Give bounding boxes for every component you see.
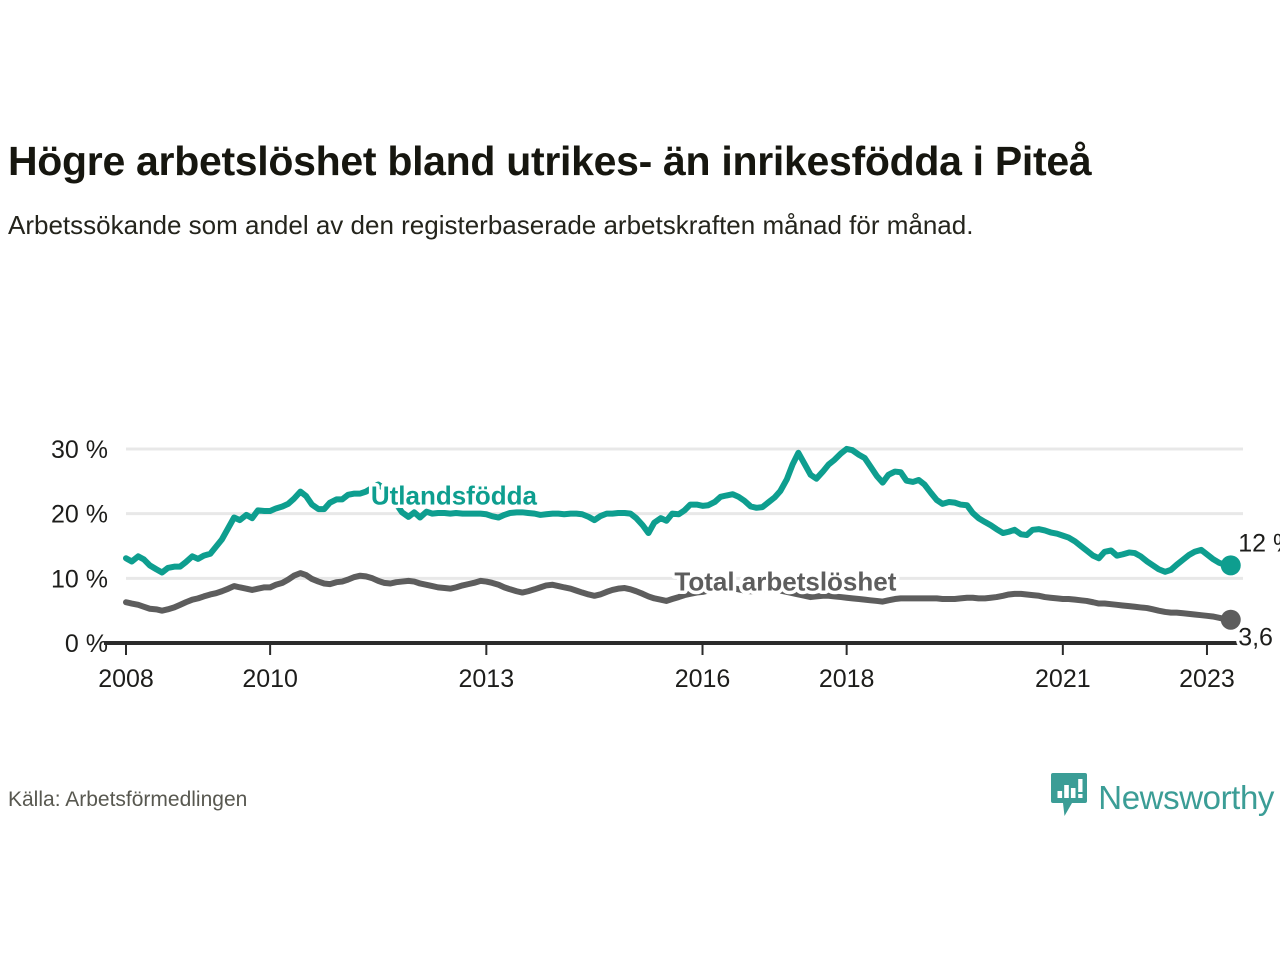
y-axis-tick-label: 0 % [65, 630, 108, 658]
page-title: Högre arbetslöshet bland utrikes- än inr… [8, 136, 1233, 186]
x-axis-tick-label: 2018 [819, 665, 875, 693]
series-label: Utlandsfödda [371, 481, 538, 511]
x-axis-tick-label: 2021 [1035, 665, 1091, 693]
series-line [126, 449, 1231, 573]
foreign-born-end-value: 12 % [1238, 529, 1280, 557]
x-axis-tick-label: 2016 [675, 665, 731, 693]
chart-footer: Källa: Arbetsförmedlingen Newsworthy [0, 778, 1280, 838]
y-axis-tick-label: 20 % [51, 501, 108, 529]
series-label: Total arbetslöshet [674, 567, 896, 597]
y-axis-tick-labels: 0 %10 %20 %30 % [51, 436, 108, 658]
page-subtitle: Arbetssökande som andel av den registerb… [8, 208, 1188, 243]
x-axis-tick-label: 2013 [459, 665, 515, 693]
y-axis-tick-label: 10 % [51, 565, 108, 593]
chart-container: 0 %10 %20 %30 % 200820102013201620182021… [0, 406, 1280, 706]
x-axis-tick-label: 2010 [242, 665, 298, 693]
chart-header: Högre arbetslöshet bland utrikes- än inr… [8, 136, 1238, 243]
newsworthy-logo[interactable]: Newsworthy [1050, 772, 1274, 823]
series-endpoint-dot [1221, 555, 1241, 575]
brand-name: Newsworthy [1098, 779, 1274, 817]
x-axis-tick-label: 2023 [1179, 665, 1235, 693]
chart-page: Högre arbetslöshet bland utrikes- än inr… [0, 0, 1280, 960]
total-end-value: 3,6 % [1238, 624, 1280, 652]
x-axis-tick-label: 2008 [98, 665, 154, 693]
y-axis-tick-label: 30 % [51, 436, 108, 464]
source-credit: Källa: Arbetsförmedlingen [8, 788, 247, 812]
line-chart: 0 %10 %20 %30 % 200820102013201620182021… [0, 406, 1280, 706]
newsworthy-bar-chart-speech-bubble-icon [1050, 772, 1088, 823]
x-axis-tick-labels: 2008201020132016201820212023 [98, 665, 1235, 693]
series-endpoint-markers [1221, 555, 1241, 629]
series-value-annotations: 12 %12 %3,6 %3,6 % [1238, 529, 1280, 651]
